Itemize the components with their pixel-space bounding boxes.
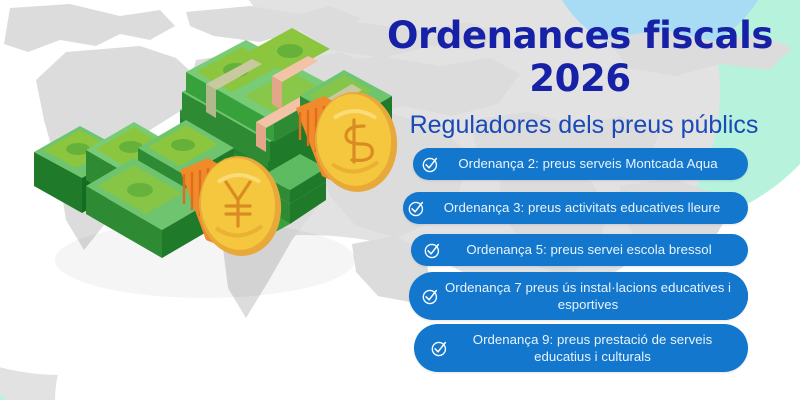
check-circle-icon [423,241,442,260]
check-circle-icon [421,287,440,306]
list-item-label: Ordenança 7 preus ús instal·lacions educ… [444,279,742,313]
list-item-label: Ordenança 2: preus serveis Montcada Aqua [444,156,742,172]
page-subtitle: Reguladores dels preus públics [380,110,788,140]
list-item-ordenanca-9[interactable]: Ordenança 9: preus prestació de serveis … [414,324,748,372]
content-column: Ordenances fiscals 2026 Reguladores dels… [380,0,800,400]
title-line-1: Ordenances fiscals [380,14,780,57]
check-circle-icon [430,339,449,358]
list-item-label: Ordenança 3: preus activitats educatives… [430,200,744,216]
list-item-ordenanca-5[interactable]: Ordenança 5: preus servei escola bressol [411,234,748,266]
list-item-label: Ordenança 5: preus servei escola bressol [446,242,742,258]
list-item-ordenanca-7[interactable]: Ordenança 7 preus ús instal·lacions educ… [409,272,748,320]
list-item-ordenanca-3[interactable]: Ordenança 3: preus activitats educatives… [403,192,748,224]
money-illustration [0,0,400,400]
title-line-2: 2026 [380,57,780,100]
check-circle-icon [421,155,440,174]
list-item-label: Ordenança 9: preus prestació de serveis … [453,331,742,365]
list-item-ordenanca-2[interactable]: Ordenança 2: preus serveis Montcada Aqua [413,148,748,180]
check-circle-icon [407,199,426,218]
page-title: Ordenances fiscals 2026 [380,14,780,100]
ordinances-banner: Ordenances fiscals 2026 Reguladores dels… [0,0,800,400]
